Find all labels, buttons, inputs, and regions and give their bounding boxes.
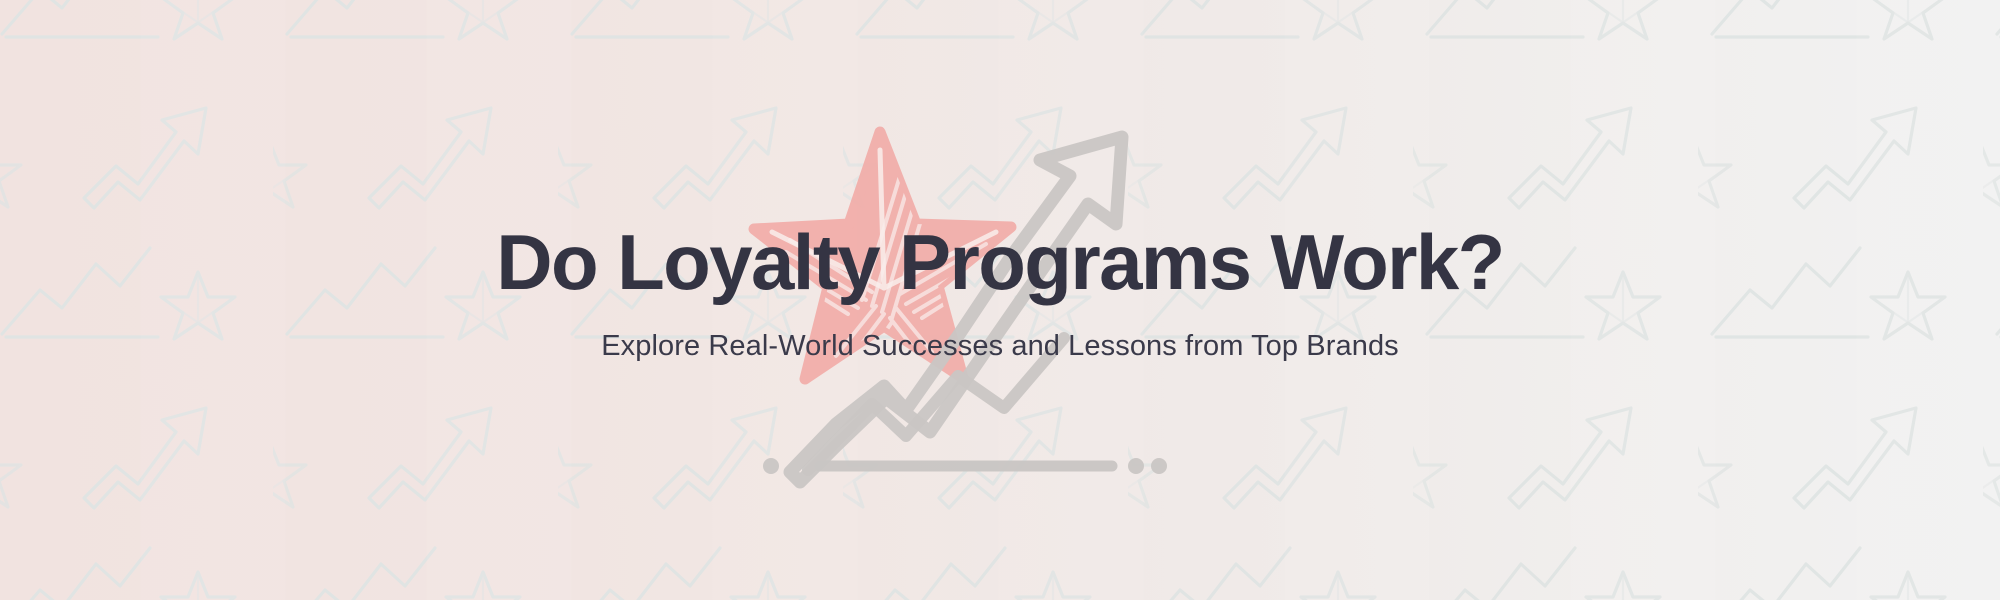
page-title: Do Loyalty Programs Work? (496, 223, 1503, 303)
page-subtitle: Explore Real-World Successes and Lessons… (601, 330, 1399, 363)
hero-banner: Do Loyalty Programs Work? Explore Real-W… (0, 0, 2000, 600)
hero-text-block: Do Loyalty Programs Work? Explore Real-W… (0, 0, 2000, 600)
